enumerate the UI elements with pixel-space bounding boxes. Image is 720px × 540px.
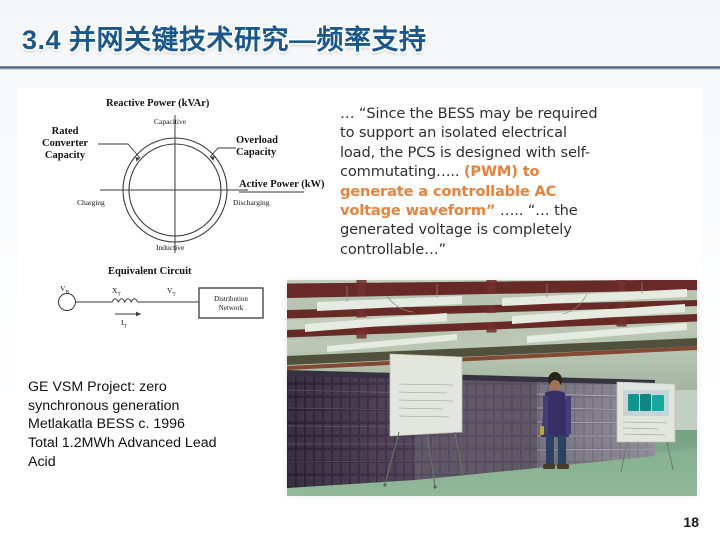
pq-label-capacitive: Capacitive (154, 117, 186, 126)
pq-label-inductive: Inductive (156, 243, 184, 252)
slide-canvas: 3.4 并网关键技术研究—频率支持 Reactive (0, 0, 720, 540)
project-caption: GE VSM Project: zero synchronous generat… (28, 378, 278, 472)
pq-axis-label-active: Active Power (kW) (239, 179, 325, 190)
photo-graphic (287, 280, 697, 496)
bess-quote-block: … “Since the BESS may be required to sup… (340, 104, 600, 259)
content-panel: Reactive Power (kVAr) Capacitive Inducti… (18, 88, 702, 512)
page-number: 18 (683, 514, 699, 530)
circuit-label-it: IT (121, 318, 127, 330)
circuit-label-xt: XT (112, 286, 121, 298)
pq-label-discharging: Discharging (233, 198, 270, 207)
circuit-label-vb: VB (60, 284, 69, 296)
bess-battery-hall-photo (287, 280, 697, 496)
circuit-label-vt: VT (167, 286, 176, 298)
pq-axis-label-reactive: Reactive Power (kVAr) (106, 98, 209, 109)
pq-capability-diagram: Reactive Power (kVAr) Capacitive Inducti… (36, 98, 306, 278)
pq-label-overload-capacity: Overload Capacity (236, 135, 278, 159)
page-title: 3.4 并网关键技术研究—频率支持 (22, 18, 427, 57)
title-divider (0, 66, 720, 70)
slide-title-bar: 3.4 并网关键技术研究—频率支持 (0, 0, 720, 70)
pq-label-rated-converter-capacity: Rated Converter Capacity (42, 126, 88, 161)
circuit-label-distribution-network: Distribution Network (201, 295, 261, 313)
equivalent-circuit-diagram: Equivalent Circuit VB XT VT IT Distribu (36, 266, 296, 336)
pq-label-charging: Charging (77, 198, 105, 207)
equivalent-circuit-title: Equivalent Circuit (108, 266, 192, 277)
